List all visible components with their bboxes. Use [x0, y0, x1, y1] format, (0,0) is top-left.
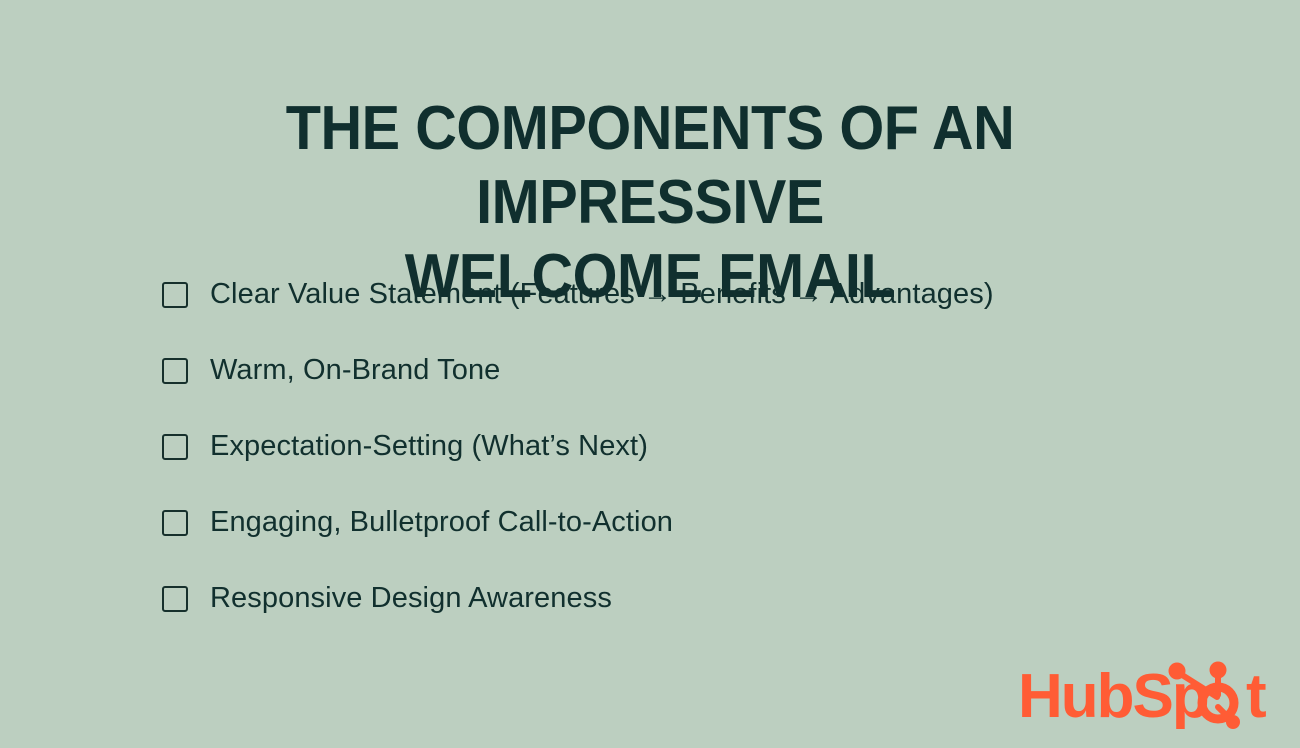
- checkbox-icon[interactable]: [162, 434, 188, 460]
- hubspot-logo-icon: HubSp t: [1018, 655, 1284, 729]
- slide-canvas: THE COMPONENTS OF AN IMPRESSIVE WELCOME …: [0, 0, 1300, 748]
- list-item-label: Expectation-Setting (What’s Next): [210, 430, 648, 463]
- checkbox-icon[interactable]: [162, 282, 188, 308]
- list-item-label: Clear Value Statement (Features → Benefi…: [210, 278, 994, 311]
- list-item[interactable]: Clear Value Statement (Features → Benefi…: [162, 278, 1222, 311]
- hubspot-logo: HubSp t: [1018, 655, 1284, 729]
- list-item-label: Warm, On-Brand Tone: [210, 354, 500, 387]
- list-item[interactable]: Warm, On-Brand Tone: [162, 354, 1222, 387]
- checkbox-icon[interactable]: [162, 358, 188, 384]
- checkbox-icon[interactable]: [162, 510, 188, 536]
- list-item-label: Engaging, Bulletproof Call-to-Action: [210, 506, 673, 539]
- checklist: Clear Value Statement (Features → Benefi…: [162, 278, 1222, 615]
- list-item[interactable]: Expectation-Setting (What’s Next): [162, 430, 1222, 463]
- list-item[interactable]: Responsive Design Awareness: [162, 582, 1222, 615]
- checkbox-icon[interactable]: [162, 586, 188, 612]
- list-item[interactable]: Engaging, Bulletproof Call-to-Action: [162, 506, 1222, 539]
- list-item-label: Responsive Design Awareness: [210, 582, 612, 615]
- hubspot-wordmark-suffix: t: [1246, 662, 1266, 729]
